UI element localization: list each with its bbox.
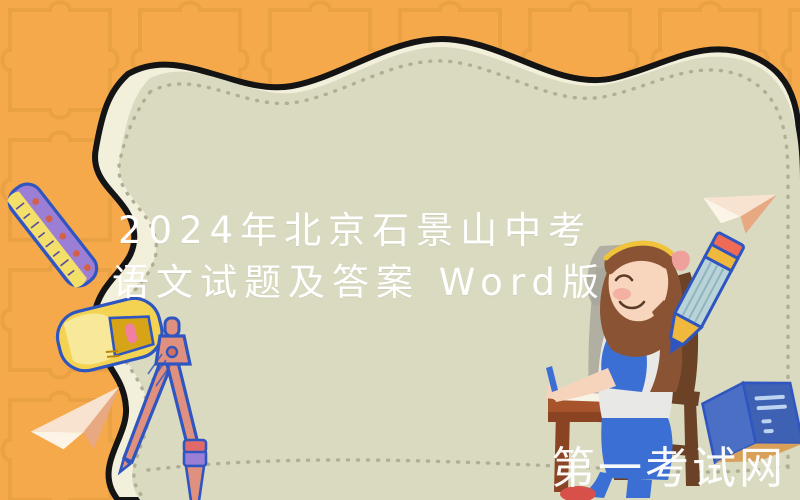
stationery-layer (0, 0, 800, 500)
paper-plane-right (698, 182, 777, 238)
paper-plane-left (26, 387, 127, 458)
pencil (657, 232, 745, 361)
eraser (52, 293, 167, 376)
open-book (700, 373, 800, 470)
ruler (3, 178, 102, 292)
banner-image: 2024年北京石景山中考 语文试题及答案 Word版 第一考试网 (0, 0, 800, 500)
